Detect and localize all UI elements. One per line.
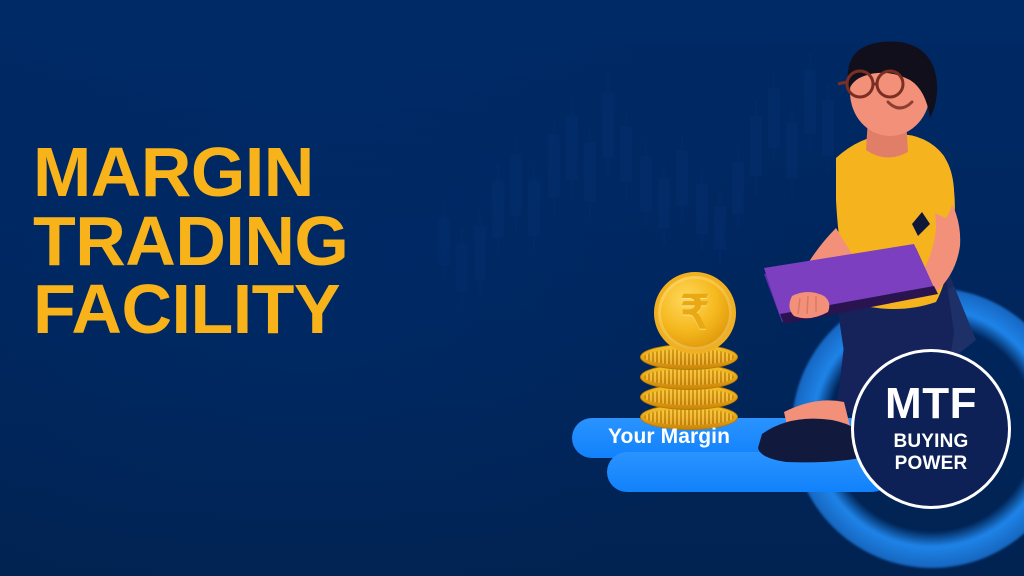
hand-left [789, 292, 829, 318]
badge-subtitle-1: BUYING [893, 431, 968, 453]
title-line-1: MARGIN [33, 138, 348, 207]
title-line-2: TRADING [33, 207, 348, 276]
mtf-badge: MTF BUYING POWER [851, 349, 1011, 509]
page-title: MARGIN TRADING FACILITY [33, 138, 348, 344]
rupee-coin-icon: ₹ [654, 272, 736, 354]
badge-acronym: MTF [885, 383, 977, 425]
sleeve-right [918, 144, 954, 218]
badge-subtitle-2: POWER [895, 453, 968, 475]
rupee-symbol: ₹ [680, 289, 709, 335]
your-margin-label: Your Margin [608, 425, 848, 449]
margin-trading-banner: MARGIN TRADING FACILITY Your Margin ₹ [0, 0, 1024, 576]
title-line-3: FACILITY [33, 275, 348, 344]
